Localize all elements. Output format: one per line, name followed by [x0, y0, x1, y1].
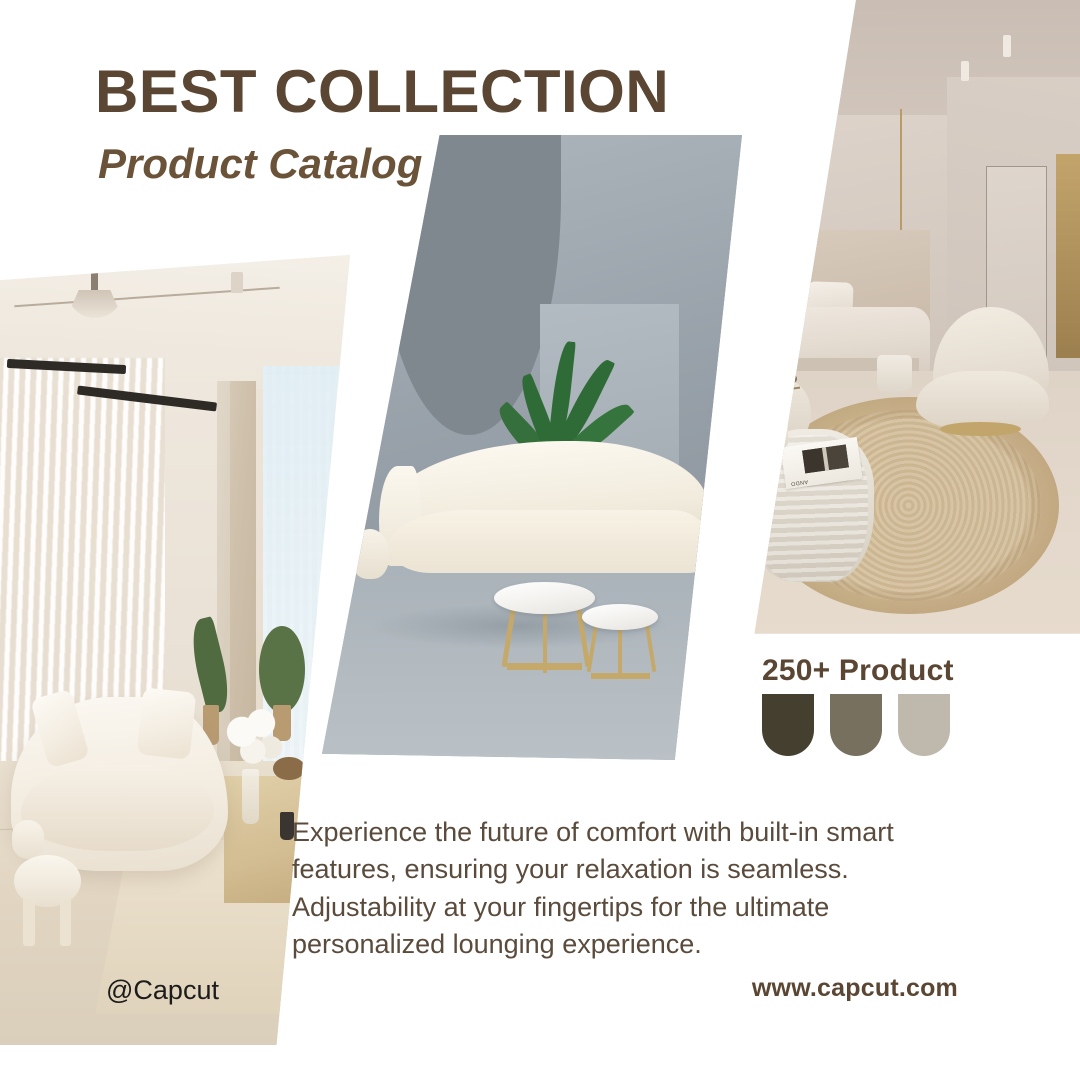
pendant-rod [900, 109, 902, 237]
plaster-bedroom-scene: ANDO [730, 0, 1080, 640]
color-swatch-group [762, 694, 950, 756]
gallery-image-plaster-bedroom[interactable]: ANDO [730, 0, 1080, 640]
dried-stems [769, 368, 801, 413]
glass-vase [242, 769, 260, 824]
product-count-label: 250+ Product [762, 654, 954, 688]
gallery-image-gray-studio-sofa[interactable] [322, 135, 742, 760]
website-url[interactable]: www.capcut.com [752, 974, 958, 1003]
color-swatch-light-beige[interactable] [898, 694, 950, 756]
sofa-pillow-2 [137, 687, 196, 759]
color-swatch-medium-taupe[interactable] [830, 694, 882, 756]
small-pouf [351, 529, 389, 579]
ceramic-vase [765, 410, 788, 448]
bed-pillow-1 [761, 284, 808, 322]
small-stool [877, 355, 912, 393]
marble-coffee-table-top [494, 582, 595, 615]
social-handle[interactable]: @Capcut [106, 975, 219, 1006]
gray-studio-scene [322, 135, 742, 760]
ottoman-leg-1 [23, 899, 35, 946]
lounge-chair-seat [916, 371, 1049, 429]
ceiling-spot-2 [1003, 35, 1011, 57]
body-paragraph: Experience the future of comfort with bu… [292, 814, 952, 963]
sofa-seat-cushion [21, 765, 214, 852]
color-swatch-dark-olive-brown[interactable] [762, 694, 814, 756]
side-table-crossbar [591, 673, 650, 680]
ottoman-leg-2 [60, 899, 72, 946]
book-cover-image [801, 444, 848, 473]
wall-art-panel [1056, 154, 1080, 359]
bolster-cushion [12, 820, 44, 860]
marble-side-table-top [582, 604, 658, 630]
pendant-rod [91, 255, 98, 293]
coffee-table-crossbar [507, 663, 583, 670]
ceiling-spotlight [231, 272, 243, 293]
page-subtitle: Product Catalog [98, 140, 422, 188]
page-title: BEST COLLECTION [95, 62, 669, 122]
sofa-seat [389, 510, 708, 573]
wooden-bowl [273, 757, 305, 781]
ceiling-spot-1 [961, 61, 969, 81]
poster-canvas: ANDO BEST COLLECTION Product Catalog 250… [0, 0, 1080, 1080]
book-title: ANDO [789, 478, 807, 486]
